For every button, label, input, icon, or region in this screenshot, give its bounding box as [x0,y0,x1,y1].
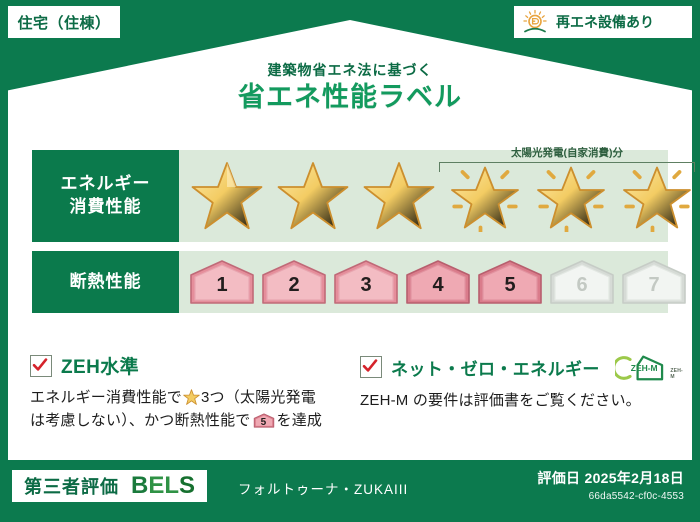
insulation-grade-3: 3 [331,259,401,305]
ratings-section: エネルギー 消費性能 [32,150,668,322]
renewable-badge-label: 再エネ設備あり [556,12,654,32]
inline-house-value: 5 [253,418,275,428]
zeh-m-logo: ZEH-M ZEH-M [615,352,686,382]
evaluation-uid: 66da5542-cf0c-4553 [537,491,684,502]
energy-performance-label: 住宅（住棟） 再エネ設備あり 建築物省エネ法に基づく [0,0,700,522]
zeh-standard-header: ZEH水準 [30,352,338,379]
footer-meta: 評価日 2025年2月18日 66da5542-cf0c-4553 [537,468,684,502]
star-4-solar [443,155,527,237]
zeh-standard-description: エネルギー消費性能で3つ（太陽光発電は考慮しない）、かつ断熱性能で5を達成 [30,386,338,433]
bels-badge: 第三者評価 BELS [12,470,207,502]
zeh-standard-block: ZEH水準 エネルギー消費性能で3つ（太陽光発電は考慮しない）、かつ断熱性能で5… [30,352,338,433]
energy-stars-area: 太陽光発電(自家消費)分 [179,150,699,242]
star-1 [185,155,269,237]
star-5-solar [529,155,613,237]
heading-title: 省エネ性能ラベル [0,81,700,115]
net-zero-energy-description: ZEH-M の要件は評価書をご覧ください。 [360,389,676,412]
insulation-label: 断熱性能 [70,271,142,294]
insulation-grade-7: 7 [619,259,689,305]
insulation-grade-4: 4 [403,259,473,305]
sun-icon [520,9,550,35]
page-title: 建築物省エネ法に基づく 省エネ性能ラベル [0,63,700,115]
zeh-standard-title: ZEH水準 [61,352,139,379]
insulation-grade-2: 2 [259,259,329,305]
zeh-desc-part1: エネルギー消費性能で [30,389,182,406]
net-zero-energy-header: ネット・ゼロ・エネルギー ZEH-M ZEH-M [360,352,676,382]
net-zero-energy-block: ネット・ゼロ・エネルギー ZEH-M ZEH-M ZEH-M の要件は評価書をご… [360,352,676,433]
footer: 第三者評価 BELS フォルトゥーナ・ZUKAIII 評価日 2025年2月18… [0,460,700,522]
insulation-grade-1: 1 [187,259,257,305]
bels-wordmark: BELS [131,474,195,498]
zeh-section: ZEH水準 エネルギー消費性能で3つ（太陽光発電は考慮しない）、かつ断熱性能で5… [30,352,676,433]
zeh-m-logo-trademark: ZEH-M [670,368,686,380]
zeh-desc-part3: は考慮しない）、かつ断熱性能で [30,412,251,429]
energy-performance-label-box: エネルギー 消費性能 [32,150,179,242]
star-3 [357,155,441,237]
bels-letter-e: E [148,474,164,498]
star-6-solar [615,155,699,237]
insulation-grade-6: 6 [547,259,617,305]
category-tag-label: 住宅（住棟） [17,12,110,33]
star-2 [271,155,355,237]
category-tag: 住宅（住棟） [8,6,120,38]
building-name: フォルトゥーナ・ZUKAIII [238,478,408,498]
check-icon [362,358,378,374]
insulation-performance-row: 断熱性能 1 2 [32,251,668,313]
renewable-equipment-badge: 再エネ設備あり [514,6,692,38]
star-rating [185,155,699,237]
bels-letter-l: L [164,474,179,498]
checkbox-net-zero-energy[interactable] [360,356,382,378]
inline-star-icon [183,389,200,406]
third-party-evaluation-label: 第三者評価 [24,473,119,499]
bels-letter-s: S [179,474,195,498]
evaluation-date: 評価日 2025年2月18日 [537,468,684,488]
insulation-grade-5: 5 [475,259,545,305]
checkbox-zeh-standard[interactable] [30,355,52,377]
energy-label-line2: 消費性能 [70,196,142,219]
bels-letter-b: B [131,474,148,498]
energy-label-line1: エネルギー [61,173,151,196]
zeh-desc-part4: を達成 [277,412,323,429]
check-icon [32,357,48,373]
net-zero-energy-title: ネット・ゼロ・エネルギー [391,355,600,380]
energy-performance-row: エネルギー 消費性能 [32,150,668,242]
inline-house-icon: 5 [253,412,275,429]
zeh-desc-part2: 3つ（太陽光発電 [201,389,316,406]
insulation-grades-area: 1 2 3 [179,251,689,313]
svg-text:ZEH-M: ZEH-M [631,363,658,373]
insulation-performance-label-box: 断熱性能 [32,251,179,313]
heading-subtitle: 建築物省エネ法に基づく [0,63,700,78]
